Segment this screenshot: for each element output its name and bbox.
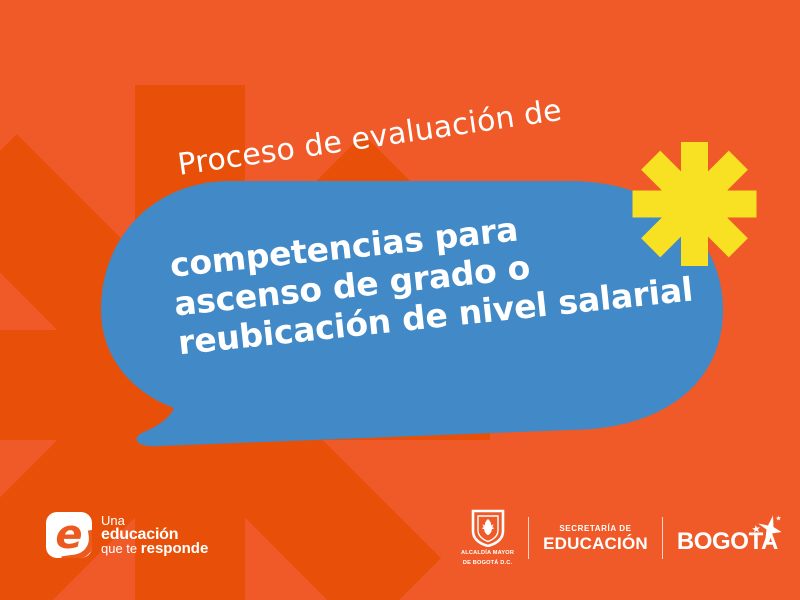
swoosh-shape <box>58 530 92 558</box>
alcaldia-caption-line-1: ALCALDÍA MAYOR <box>461 550 514 557</box>
secretaria-educacion-block: SECRETARÍA DE EDUCACIÓN <box>543 523 648 553</box>
headline-kicker: Proceso de evaluación de <box>176 93 564 183</box>
brand-lockup-education: e Una educación que te responde <box>46 512 208 558</box>
alcaldia-caption-line-2: DE BOGOTÁ D.C. <box>463 560 512 567</box>
bogota-star-icon <box>742 515 782 545</box>
brand-left-line-3-light: que te <box>101 541 141 556</box>
brand-left-words: Una educación que te responde <box>101 514 208 556</box>
brand-lockup-institutional: ALCALDÍA MAYOR DE BOGOTÁ D.C. SECRETARÍA… <box>461 508 778 568</box>
divider-2 <box>662 517 663 559</box>
divider-1 <box>528 517 529 559</box>
poster-canvas: Proceso de evaluación de competencias pa… <box>0 0 800 600</box>
education-e-logo-icon: e <box>46 512 92 558</box>
secretaria-label: SECRETARÍA DE <box>543 523 648 534</box>
alcaldia-block: ALCALDÍA MAYOR DE BOGOTÁ D.C. <box>461 509 514 567</box>
educacion-label: EDUCACIÓN <box>543 534 648 553</box>
bogota-coat-of-arms-icon <box>471 509 505 547</box>
bogota-logo: BOGOTA <box>677 521 778 555</box>
brand-left-line-3-bold: responde <box>141 540 209 557</box>
brand-left-line-3: que te responde <box>101 542 208 556</box>
